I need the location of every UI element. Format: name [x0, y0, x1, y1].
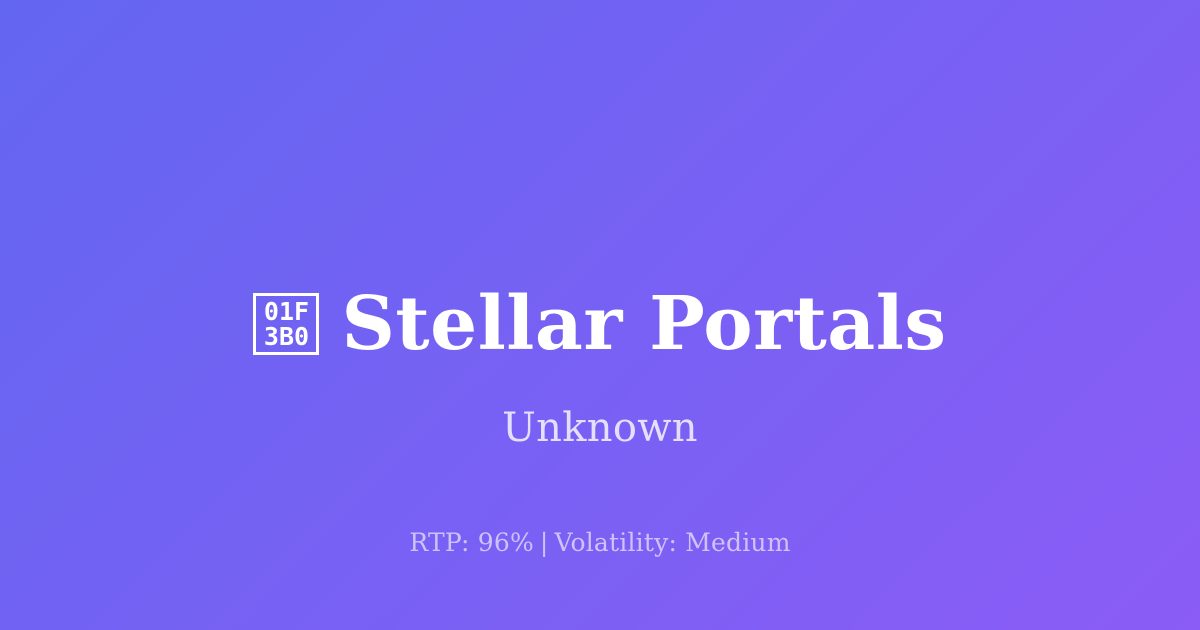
- slot-machine-icon: 01F 3B0: [253, 293, 319, 355]
- tofu-codepoint-bottom: 3B0: [264, 324, 309, 349]
- title-row: 01F 3B0 Stellar Portals: [253, 286, 946, 363]
- rtp-text: RTP: 96%: [409, 528, 534, 557]
- meta-separator: |: [534, 528, 555, 557]
- page-title: Stellar Portals: [341, 286, 946, 363]
- tofu-codepoint-top: 01F: [264, 299, 309, 324]
- card-meta-line: RTP: 96%|Volatility: Medium: [0, 528, 1200, 558]
- og-share-card: 01F 3B0 Stellar Portals Unknown RTP: 96%…: [0, 0, 1200, 630]
- volatility-text: Volatility: Medium: [555, 528, 791, 557]
- card-subtitle: Unknown: [502, 404, 698, 452]
